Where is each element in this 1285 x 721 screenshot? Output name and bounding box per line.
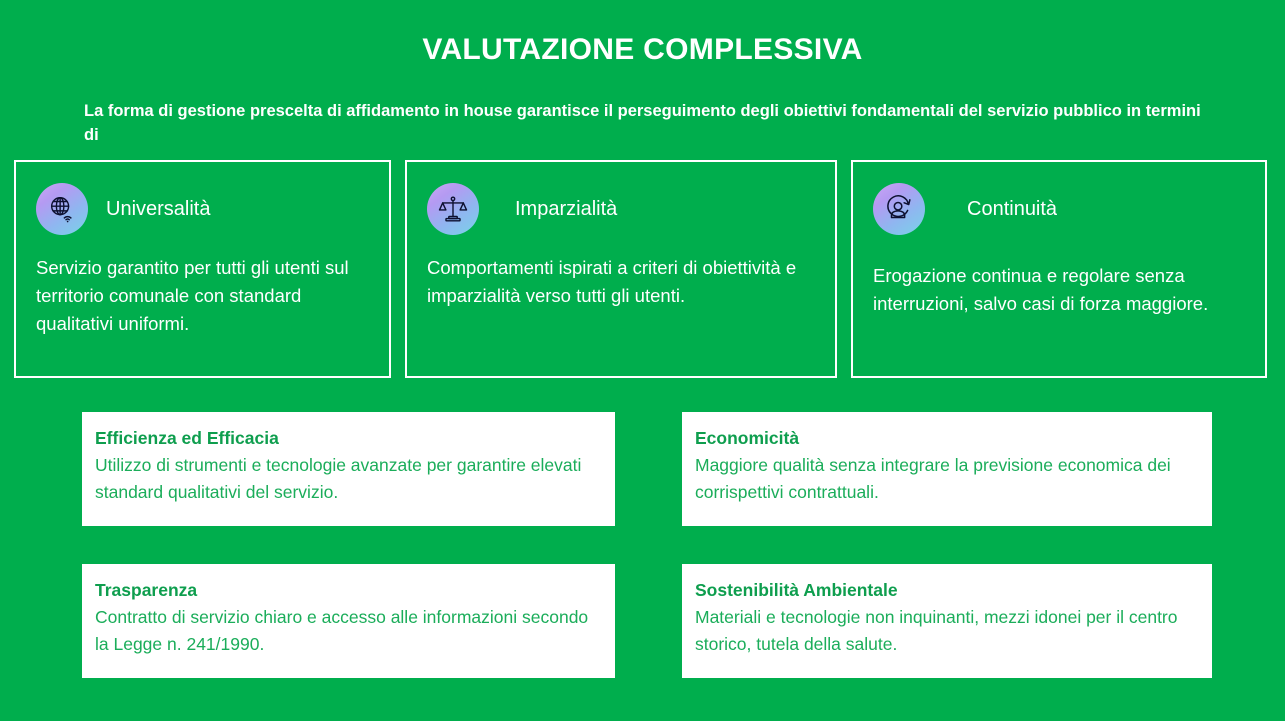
features-row-2: Trasparenza Contratto di servizio chiaro…: [82, 564, 1212, 678]
features-row-1: Efficienza ed Efficacia Utilizzo di stru…: [82, 412, 1212, 526]
page-title: VALUTAZIONE COMPLESSIVA: [0, 0, 1285, 68]
person-refresh-icon: [873, 183, 925, 235]
pillar-header: Universalità: [36, 178, 369, 240]
feature-description: Utilizzo di strumenti e tecnologie avanz…: [95, 452, 601, 507]
features-container: Efficienza ed Efficacia Utilizzo di stru…: [82, 412, 1212, 678]
pillar-description: Servizio garantito per tutti gli utenti …: [36, 254, 369, 338]
feature-title: Sostenibilità Ambientale: [695, 578, 1198, 603]
feature-description: Contratto di servizio chiaro e accesso a…: [95, 604, 601, 659]
pillar-title: Imparzialità: [515, 198, 617, 221]
pillar-header: Continuità: [873, 178, 1245, 240]
feature-description: Materiali e tecnologie non inquinanti, m…: [695, 604, 1198, 659]
pillar-card-continuita: Continuità Erogazione continua e regolar…: [851, 160, 1267, 378]
pillar-title: Continuità: [967, 198, 1057, 221]
feature-title: Efficienza ed Efficacia: [95, 426, 601, 451]
pillar-title: Universalità: [106, 198, 210, 221]
feature-title: Trasparenza: [95, 578, 601, 603]
slide-subtitle: La forma di gestione prescelta di affida…: [84, 100, 1214, 148]
pillar-header: Imparzialità: [427, 178, 815, 240]
feature-title: Economicità: [695, 426, 1198, 451]
globe-wifi-icon: [36, 183, 88, 235]
pillar-description: Comportamenti ispirati a criteri di obie…: [427, 254, 815, 310]
feature-card-trasparenza: Trasparenza Contratto di servizio chiaro…: [82, 564, 615, 678]
balance-scale-icon: [427, 183, 479, 235]
feature-description: Maggiore qualità senza integrare la prev…: [695, 452, 1198, 507]
pillars-container: Universalità Servizio garantito per tutt…: [14, 160, 1271, 378]
feature-card-economicita: Economicità Maggiore qualità senza integ…: [682, 412, 1212, 526]
feature-card-sostenibilita: Sostenibilità Ambientale Materiali e tec…: [682, 564, 1212, 678]
feature-card-efficienza: Efficienza ed Efficacia Utilizzo di stru…: [82, 412, 615, 526]
pillar-card-imparzialita: Imparzialità Comportamenti ispirati a cr…: [405, 160, 837, 378]
slide-root: VALUTAZIONE COMPLESSIVA La forma di gest…: [0, 0, 1285, 721]
pillar-description: Erogazione continua e regolare senza int…: [873, 262, 1245, 318]
pillar-card-universalita: Universalità Servizio garantito per tutt…: [14, 160, 391, 378]
